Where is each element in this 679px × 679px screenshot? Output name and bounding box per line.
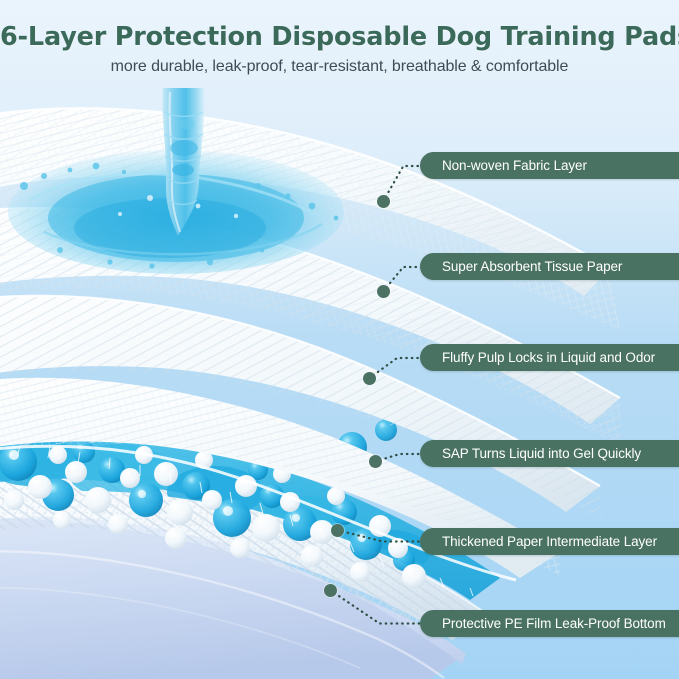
callout-pill-sap-turns-liquid-into-gel-quickly[interactable]: SAP Turns Liquid into Gel Quickly	[420, 440, 679, 467]
product-infographic: 6-Layer Protection Disposable Dog Traini…	[0, 0, 679, 679]
callout-pill-fluffy-pulp-locks-in-liquid-and-odor[interactable]: Fluffy Pulp Locks in Liquid and Odor	[420, 344, 679, 371]
callout-pill-protective-pe-film-leak-proof-bottom[interactable]: Protective PE Film Leak-Proof Bottom	[420, 610, 679, 637]
leader-path	[375, 454, 420, 462]
callout-pill-super-absorbent-tissue-paper[interactable]: Super Absorbent Tissue Paper	[420, 253, 679, 280]
callout-label-sap-turns-liquid-into-gel-quickly: SAP Turns Liquid into Gel Quickly	[442, 447, 641, 461]
leader-path	[330, 590, 420, 624]
connector-dot-non-woven-fabric-layer	[377, 195, 390, 208]
page-title: 6-Layer Protection Disposable Dog Traini…	[0, 0, 679, 51]
callout-pill-non-woven-fabric-layer[interactable]: Non-woven Fabric Layer	[420, 152, 679, 179]
header: 6-Layer Protection Disposable Dog Traini…	[0, 0, 679, 76]
callout-label-thickened-paper-intermediate-layer: Thickened Paper Intermediate Layer	[442, 535, 657, 549]
callout-label-non-woven-fabric-layer: Non-woven Fabric Layer	[442, 159, 587, 173]
callout-label-fluffy-pulp-locks-in-liquid-and-odor: Fluffy Pulp Locks in Liquid and Odor	[442, 351, 655, 365]
connector-dot-thickened-paper-intermediate-layer	[331, 524, 344, 537]
leader-path	[369, 358, 420, 379]
callout-label-protective-pe-film-leak-proof-bottom: Protective PE Film Leak-Proof Bottom	[442, 617, 666, 631]
callout-pill-thickened-paper-intermediate-layer[interactable]: Thickened Paper Intermediate Layer	[420, 528, 679, 555]
leader-path	[337, 530, 420, 542]
leader-path	[383, 166, 420, 202]
callout-label-super-absorbent-tissue-paper: Super Absorbent Tissue Paper	[442, 260, 622, 274]
connector-dot-protective-pe-film-leak-proof-bottom	[324, 584, 337, 597]
connector-dot-fluffy-pulp-locks-in-liquid-and-odor	[363, 372, 376, 385]
page-subtitle: more durable, leak-proof, tear-resistant…	[0, 51, 679, 76]
connector-dot-sap-turns-liquid-into-gel-quickly	[369, 455, 382, 468]
connector-dot-super-absorbent-tissue-paper	[377, 285, 390, 298]
